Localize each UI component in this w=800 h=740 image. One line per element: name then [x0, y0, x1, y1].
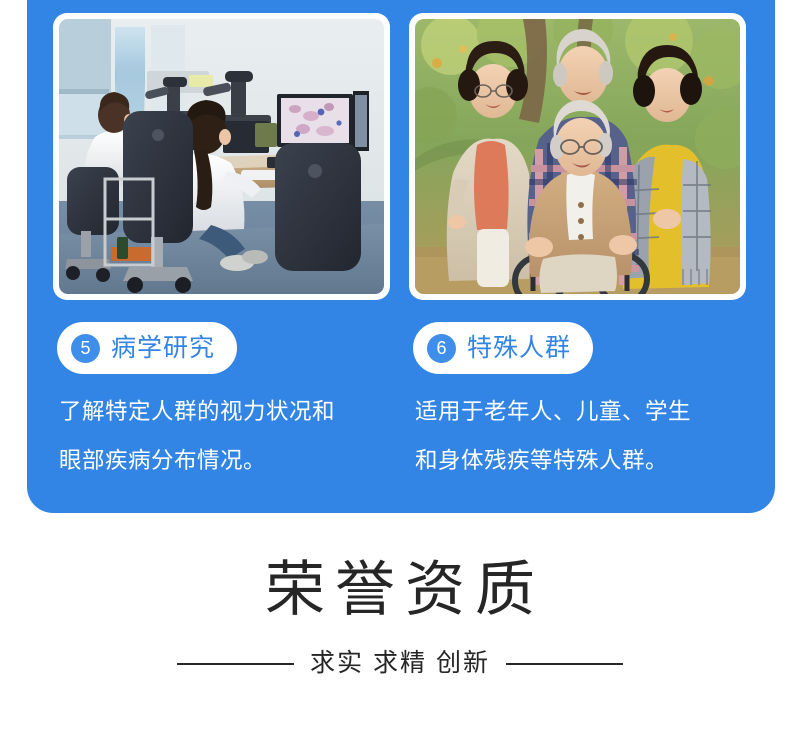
feature-badge-6[interactable]: 6 特殊人群 [413, 322, 593, 374]
laboratory-microscope-research-photo [59, 19, 384, 294]
divider-line-right [506, 663, 623, 665]
feature-cards-row: 5 病学研究 了解特定人群的视力状况和 眼部疾病分布情况。 [27, 0, 775, 473]
divider-line-left [177, 663, 294, 665]
feature-number-5: 5 [71, 334, 100, 363]
feature-card-6: 6 特殊人群 适用于老年人、儿童、学生 和身体残疾等特殊人群。 [409, 0, 766, 473]
feature-panel: 5 病学研究 了解特定人群的视力状况和 眼部疾病分布情况。 [27, 0, 775, 513]
honors-title: 荣誉资质 [0, 560, 800, 620]
lab-photo-illustration [59, 19, 384, 294]
feature-photo-card-5 [53, 13, 390, 300]
feature-description-6: 适用于老年人、儿童、学生 和身体残疾等特殊人群。 [415, 387, 765, 485]
honors-section: 荣誉资质 求实 求精 创新 [0, 560, 800, 676]
feature-description-6-line-2: 和身体残疾等特殊人群。 [415, 436, 765, 485]
elderly-photo-illustration [415, 19, 740, 294]
feature-title-6: 特殊人群 [467, 336, 571, 361]
feature-description-5-line-2: 眼部疾病分布情况。 [59, 436, 409, 485]
feature-title-5: 病学研究 [111, 336, 215, 361]
honors-subtitle-row: 求实 求精 创新 [0, 651, 800, 676]
honors-subtitle: 求实 求精 创新 [310, 651, 490, 676]
feature-photo-card-6 [409, 13, 746, 300]
elderly-group-outdoor-photo [415, 19, 740, 294]
feature-card-5: 5 病学研究 了解特定人群的视力状况和 眼部疾病分布情况。 [53, 0, 410, 473]
feature-badge-5[interactable]: 5 病学研究 [57, 322, 237, 374]
feature-number-6: 6 [427, 334, 456, 363]
feature-description-5-line-1: 了解特定人群的视力状况和 [59, 387, 409, 436]
feature-description-5: 了解特定人群的视力状况和 眼部疾病分布情况。 [59, 387, 409, 485]
feature-description-6-line-1: 适用于老年人、儿童、学生 [415, 387, 765, 436]
